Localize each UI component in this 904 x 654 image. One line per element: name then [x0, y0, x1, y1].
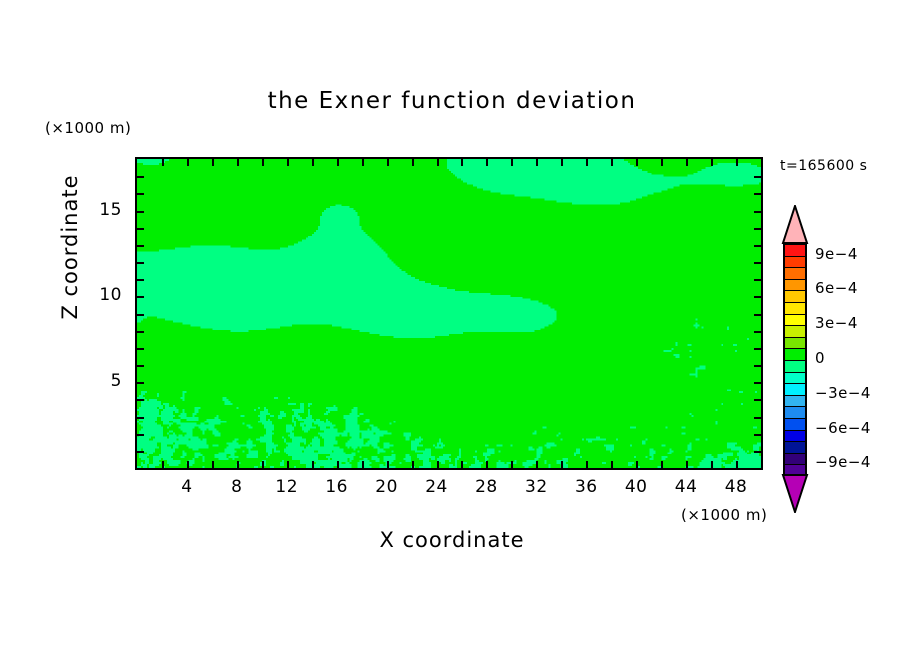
- x-tick: [162, 461, 164, 468]
- y-tick: [137, 193, 144, 195]
- y-tick: [754, 262, 761, 264]
- y-tick: [137, 365, 144, 367]
- colorbar-label: −6e−4: [815, 419, 871, 437]
- colorbar-segment: [785, 326, 805, 338]
- x-tick: [362, 159, 364, 166]
- x-tick: [412, 461, 414, 468]
- colorbar-segment: [785, 349, 805, 361]
- y-tick-label: 5: [92, 371, 122, 391]
- x-tick: [212, 159, 214, 166]
- x-tick-label: 40: [616, 477, 656, 497]
- y-tick: [137, 279, 144, 281]
- y-tick: [754, 348, 761, 350]
- y-tick: [137, 211, 144, 213]
- x-tick: [437, 159, 439, 166]
- x-tick: [412, 159, 414, 166]
- y-tick: [754, 279, 761, 281]
- y-tick: [137, 348, 144, 350]
- x-tick: [461, 461, 463, 468]
- colorbar-label: −9e−4: [815, 453, 871, 471]
- y-tick: [754, 228, 761, 230]
- colorbar-segment: [785, 257, 805, 269]
- colorbar-segment: [785, 361, 805, 373]
- page-title: the Exner function deviation: [0, 88, 904, 114]
- y-axis-unit: (×1000 m): [45, 119, 131, 137]
- y-tick: [137, 176, 144, 178]
- y-tick-label: 10: [92, 285, 122, 305]
- x-tick: [686, 461, 688, 468]
- x-tick: [461, 159, 463, 166]
- x-tick: [686, 159, 688, 166]
- colorbar: [783, 243, 807, 475]
- x-tick: [387, 461, 389, 468]
- colorbar-label: −3e−4: [815, 384, 871, 402]
- contour-plot-area: [135, 157, 763, 470]
- y-tick: [754, 314, 761, 316]
- y-tick: [754, 434, 761, 436]
- x-tick: [337, 461, 339, 468]
- y-tick: [754, 451, 761, 453]
- y-tick: [137, 262, 144, 264]
- x-tick-label: 32: [516, 477, 556, 497]
- x-tick: [561, 461, 563, 468]
- x-tick: [287, 461, 289, 468]
- y-tick: [137, 399, 144, 401]
- colorbar-segment: [785, 396, 805, 408]
- x-tick-label: 44: [666, 477, 706, 497]
- x-tick-label: 48: [716, 477, 756, 497]
- y-tick: [137, 417, 144, 419]
- y-tick: [137, 228, 144, 230]
- y-tick: [754, 193, 761, 195]
- y-tick: [137, 314, 144, 316]
- x-tick: [711, 159, 713, 166]
- x-tick: [212, 461, 214, 468]
- colorbar-segment: [785, 280, 805, 292]
- y-tick: [137, 382, 144, 384]
- colorbar-label: 9e−4: [815, 245, 858, 263]
- x-tick: [362, 461, 364, 468]
- x-tick: [187, 159, 189, 166]
- colorbar-segment: [785, 373, 805, 385]
- colorbar-segment: [785, 419, 805, 431]
- x-tick: [711, 461, 713, 468]
- x-tick: [661, 159, 663, 166]
- x-tick-label: 16: [317, 477, 357, 497]
- x-tick: [736, 461, 738, 468]
- contour-field: [137, 159, 761, 468]
- colorbar-label: 3e−4: [815, 314, 858, 332]
- x-axis-title: X coordinate: [0, 528, 904, 552]
- x-tick: [287, 159, 289, 166]
- y-tick: [754, 176, 761, 178]
- x-tick-label: 36: [566, 477, 606, 497]
- y-tick-label: 15: [92, 200, 122, 220]
- colorbar-segment: [785, 268, 805, 280]
- x-tick-label: 4: [167, 477, 207, 497]
- colorbar-segment: [785, 442, 805, 454]
- x-tick: [437, 461, 439, 468]
- y-tick: [754, 417, 761, 419]
- colorbar-segment: [785, 291, 805, 303]
- y-tick: [754, 296, 761, 298]
- y-tick: [754, 399, 761, 401]
- x-tick: [387, 159, 389, 166]
- colorbar-segment: [785, 245, 805, 257]
- x-tick: [661, 461, 663, 468]
- x-tick: [262, 461, 264, 468]
- colorbar-segment: [785, 407, 805, 419]
- x-tick: [312, 461, 314, 468]
- x-tick: [561, 159, 563, 166]
- y-axis-title: Z coordinate: [58, 147, 82, 347]
- y-tick: [137, 451, 144, 453]
- y-tick: [137, 296, 144, 298]
- y-tick: [137, 245, 144, 247]
- x-tick: [636, 159, 638, 166]
- y-tick: [754, 211, 761, 213]
- x-tick: [611, 159, 613, 166]
- x-tick: [636, 461, 638, 468]
- colorbar-label: 6e−4: [815, 279, 858, 297]
- x-axis-unit: (×1000 m): [681, 506, 767, 524]
- colorbar-segment: [785, 454, 805, 466]
- x-tick-label: 24: [417, 477, 457, 497]
- x-tick-label: 12: [267, 477, 307, 497]
- x-tick-label: 28: [466, 477, 506, 497]
- timestamp-annotation: t=165600 s: [780, 158, 867, 174]
- colorbar-label: 0: [815, 349, 825, 367]
- x-tick: [736, 159, 738, 166]
- y-tick: [754, 365, 761, 367]
- y-tick: [754, 331, 761, 333]
- y-tick: [754, 245, 761, 247]
- x-tick: [237, 159, 239, 166]
- colorbar-segment: [785, 338, 805, 350]
- x-tick: [486, 461, 488, 468]
- x-tick: [586, 159, 588, 166]
- colorbar-segment: [785, 303, 805, 315]
- x-tick: [337, 159, 339, 166]
- x-tick: [511, 461, 513, 468]
- colorbar-segment: [785, 431, 805, 443]
- y-tick: [137, 434, 144, 436]
- y-tick: [754, 382, 761, 384]
- x-tick: [536, 159, 538, 166]
- x-tick: [312, 159, 314, 166]
- x-tick: [187, 461, 189, 468]
- x-tick-label: 8: [217, 477, 257, 497]
- x-tick: [237, 461, 239, 468]
- x-tick: [162, 159, 164, 166]
- x-tick-label: 20: [367, 477, 407, 497]
- x-tick: [262, 159, 264, 166]
- x-tick: [511, 159, 513, 166]
- colorbar-segment: [785, 384, 805, 396]
- x-tick: [536, 461, 538, 468]
- x-tick: [611, 461, 613, 468]
- y-tick: [137, 331, 144, 333]
- colorbar-segment: [785, 315, 805, 327]
- x-tick: [486, 159, 488, 166]
- x-tick: [586, 461, 588, 468]
